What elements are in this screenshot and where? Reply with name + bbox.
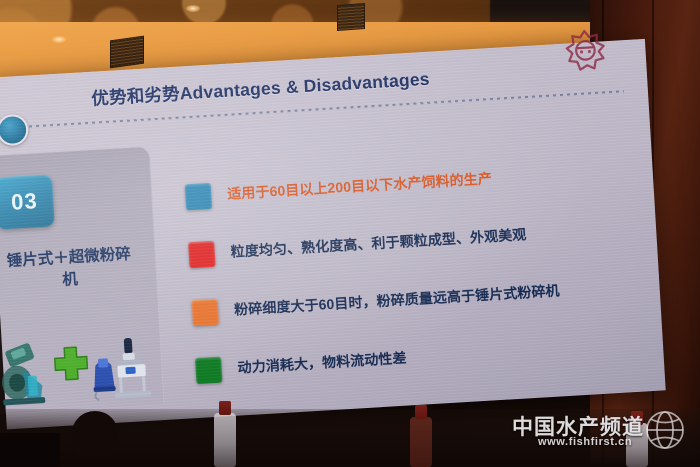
gear-icon	[562, 27, 609, 74]
ceiling-air-vent	[337, 3, 365, 31]
audience-silhouette	[72, 411, 118, 455]
globe-icon	[640, 405, 690, 455]
ultrafine-grinder-icon	[92, 358, 116, 400]
ceiling-downlight	[52, 36, 66, 43]
bullet-swatch-blue	[185, 183, 212, 210]
machine-diagram-illustration	[0, 322, 166, 410]
left-section-panel: 03 锤片式＋超微粉碎 机	[0, 146, 165, 414]
ceiling-downlight	[186, 5, 200, 12]
plus-icon	[54, 347, 88, 381]
bullet-swatch-red	[188, 241, 215, 268]
watermark-url: www.fishfirst.cn	[538, 436, 632, 448]
ceiling-air-vent	[110, 36, 144, 69]
bullet-swatch-orange	[192, 299, 219, 326]
water-bottle	[410, 417, 432, 467]
section-number-badge: 03	[0, 174, 55, 229]
bullet-text: 适用于60目以上200目以下水产饲料的生产	[227, 168, 493, 204]
classifier-machine-icon	[112, 337, 151, 398]
title-marker-dot-icon	[0, 114, 29, 147]
section-title-label: 锤片式＋超微粉碎 机	[0, 243, 143, 296]
foreground-dark-object	[0, 433, 60, 467]
bullet-swatch-green	[195, 357, 222, 384]
section-number-label: 03	[10, 188, 38, 216]
water-bottle	[214, 413, 236, 467]
bullet-list: 适用于60目以上200目以下水产饲料的生产 粒度均匀、熟化度高、利于颗粒成型、外…	[184, 152, 647, 410]
projection-screen: 优势和劣势Advantages & Disadvantages 03	[0, 39, 666, 430]
slide-content: 优势和劣势Advantages & Disadvantages 03	[0, 39, 666, 430]
bullet-text: 动力消耗大，物料流动性差	[237, 348, 407, 378]
presentation-photo-scene: 优势和劣势Advantages & Disadvantages 03	[0, 0, 700, 467]
hammer-mill-icon	[0, 342, 45, 406]
watermark: 中国水产频道 www.fishfirst.cn	[506, 403, 692, 457]
